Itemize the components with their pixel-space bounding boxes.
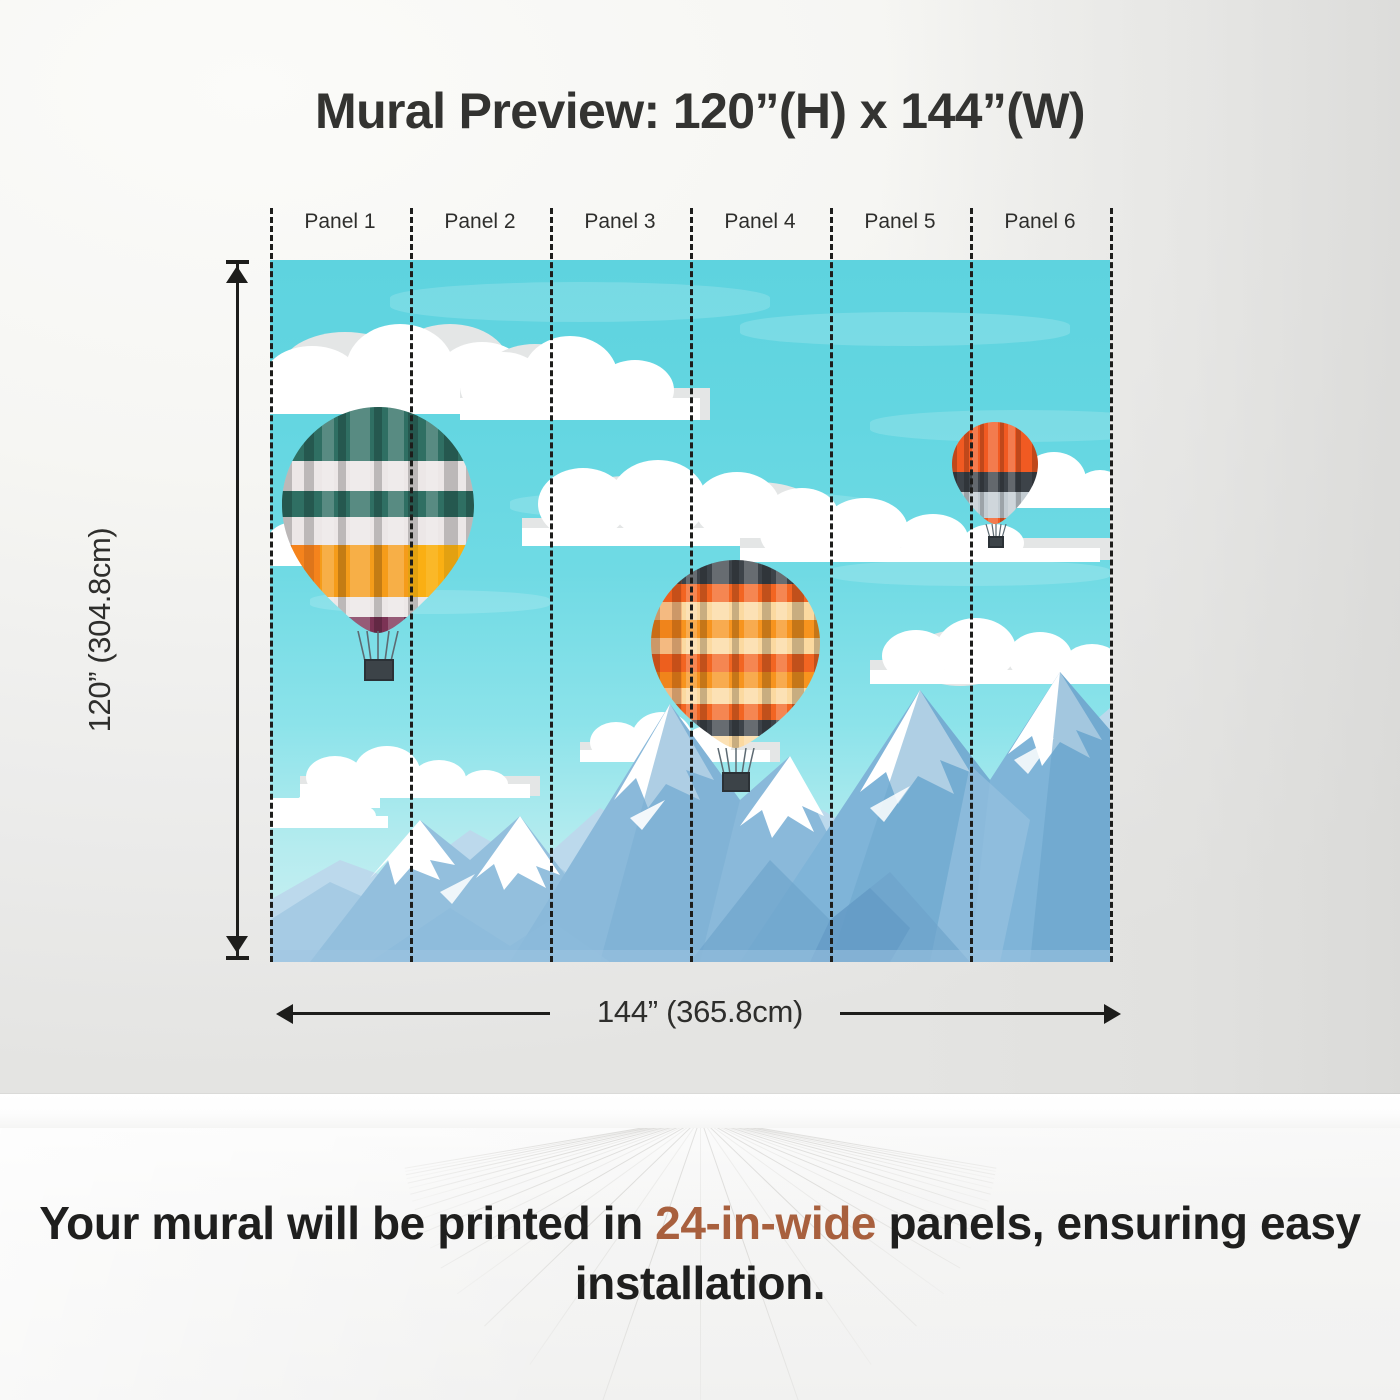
panel-divider-4 [830,208,833,962]
panel-label-5: Panel 5 [830,210,970,234]
panel-divider-3 [690,208,693,962]
balloon-left-teal-orange [278,405,478,680]
balloon-right-orange [950,420,1040,548]
width-dimension-label: 144” (365.8cm) [0,994,1400,1030]
mural-preview[interactable]: Panel 1 Panel 2 Panel 3 Panel 4 Panel 5 … [270,260,1110,962]
balloon-left-ropes [356,631,400,661]
panel-divider-0 [270,208,273,962]
panel-divider-2 [550,208,553,962]
baseboard [0,1094,1400,1130]
balloon-center-basket [722,772,750,792]
vertical-dim-line [236,262,239,958]
balloon-center-envelope [648,558,823,750]
page-title: Mural Preview: 120”(H) x 144”(W) [0,82,1400,140]
caption-accent: 24-in-wide [655,1197,876,1249]
panel-divider-1 [410,208,413,962]
height-dimension-label: 120” (304.8cm) [82,460,118,800]
panel-divider-5 [970,208,973,962]
caption-prefix: Your mural will be printed in [39,1197,655,1249]
panel-label-4: Panel 4 [690,210,830,234]
vertical-dim-arrow-up [226,266,248,283]
balloon-center-ropes [716,748,756,774]
balloon-left-basket [364,659,394,681]
panel-label-1: Panel 1 [270,210,410,234]
panel-label-6: Panel 6 [970,210,1110,234]
balloon-right-basket [988,536,1004,548]
vertical-dim-arrow-down [226,936,248,953]
room-scene: Mural Preview: 120”(H) x 144”(W) 120” (3… [0,0,1400,1400]
panel-divider-6 [1110,208,1113,962]
vertical-dim-cap-bottom [226,956,249,960]
balloon-left-envelope [278,405,478,637]
balloon-center-orange [648,558,823,788]
panel-label-3: Panel 3 [550,210,690,234]
balloon-right-envelope [950,420,1040,526]
panel-label-2: Panel 2 [410,210,550,234]
footer-caption: Your mural will be printed in 24-in-wide… [0,1194,1400,1314]
